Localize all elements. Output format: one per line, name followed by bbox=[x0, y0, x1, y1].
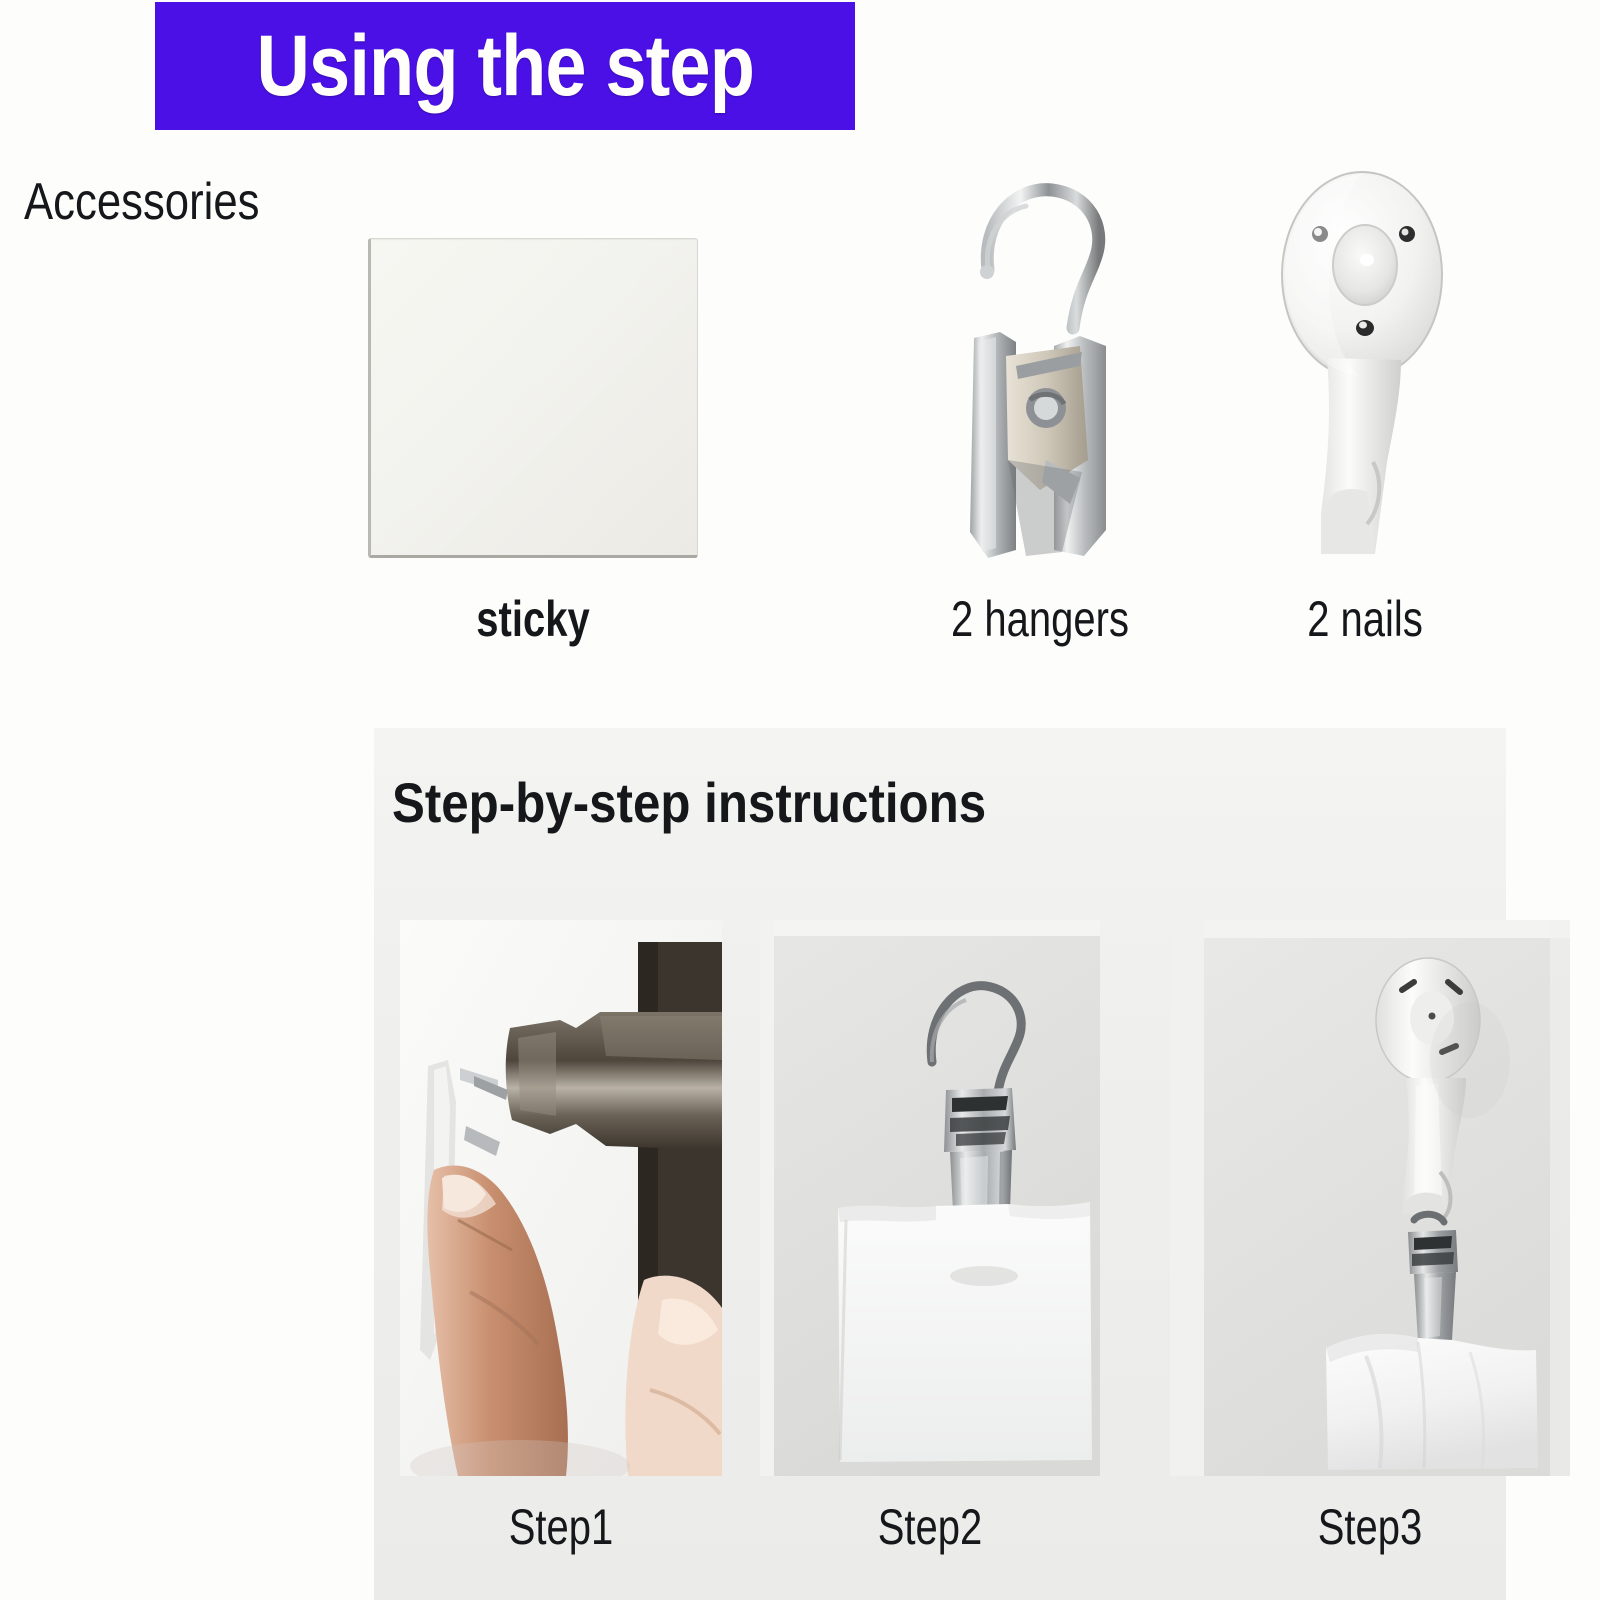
accessory-label-sticky: sticky bbox=[401, 590, 665, 648]
accessory-nails bbox=[1255, 162, 1470, 562]
hammering-nail-into-wall-photo bbox=[400, 920, 722, 1476]
wall-hook-nail-icon bbox=[1255, 162, 1470, 562]
accessory-label-nails: 2 nails bbox=[1245, 590, 1485, 648]
accessory-sticky bbox=[368, 238, 698, 558]
title-banner: Using the step bbox=[155, 2, 855, 130]
sticky-pad-icon bbox=[368, 238, 698, 558]
infographic-root: Using the step Accessories sticky bbox=[0, 0, 1600, 1600]
clip-hanger-icon bbox=[930, 160, 1150, 560]
step-3-label: Step3 bbox=[1210, 1498, 1530, 1556]
wall-hook-with-clip-and-fabric-photo bbox=[1170, 920, 1570, 1476]
accessories-row: sticky bbox=[0, 150, 1600, 670]
step-2-photo bbox=[760, 920, 1100, 1476]
accessory-label-hangers: 2 hangers bbox=[920, 590, 1160, 648]
clip-hanger-holding-sheet-photo bbox=[760, 920, 1100, 1476]
step-1-photo bbox=[400, 920, 722, 1476]
accessory-hanger bbox=[930, 160, 1150, 560]
instructions-section-label: Step-by-step instructions bbox=[392, 770, 986, 835]
step-3-photo bbox=[1170, 920, 1570, 1476]
step-1-label: Step1 bbox=[432, 1498, 690, 1556]
page-title: Using the step bbox=[256, 17, 754, 116]
step-2-label: Step2 bbox=[794, 1498, 1066, 1556]
